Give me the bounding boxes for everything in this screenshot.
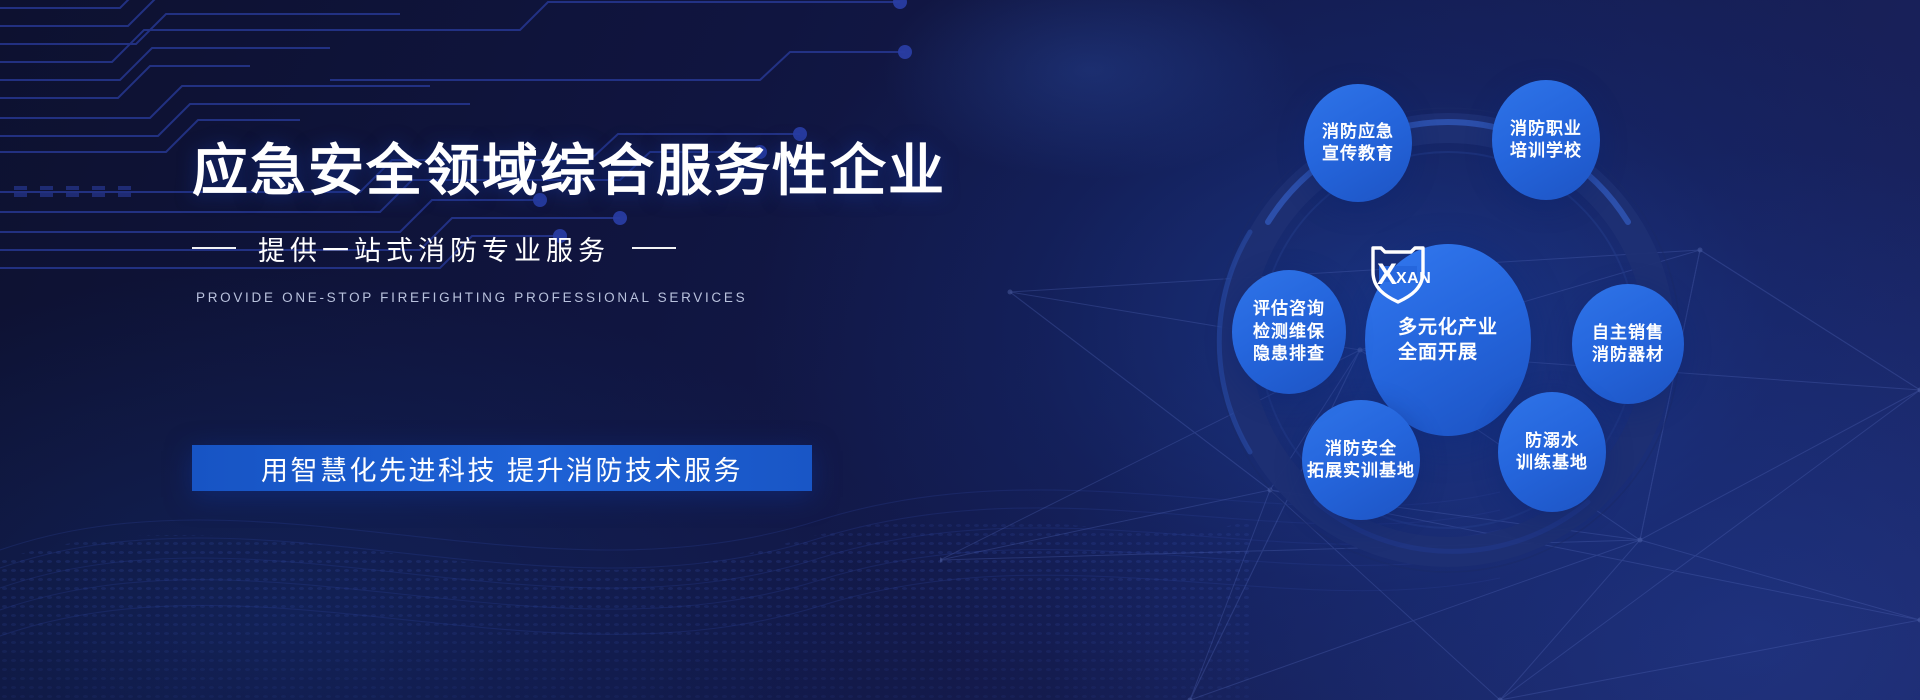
- shield-logo-icon: X XAN: [1365, 244, 1431, 306]
- hub-line-2: 全面开展: [1398, 340, 1498, 365]
- tagline-text: 用智慧化先进科技 提升消防技术服务: [261, 449, 743, 488]
- node-line-2: 消防器材: [1592, 344, 1664, 366]
- node-line-1: 消防安全: [1325, 438, 1397, 460]
- node-assessment-consulting[interactable]: 评估咨询 检测维保 隐患排查: [1232, 270, 1346, 394]
- hub-label: 多元化产业 全面开展: [1398, 315, 1498, 366]
- node-anti-drowning-base[interactable]: 防溺水 训练基地: [1498, 392, 1606, 512]
- node-fire-safety-training-base[interactable]: 消防安全 拓展实训基地: [1302, 400, 1420, 520]
- subtitle-row: 提供一站式消防专业服务: [192, 229, 912, 268]
- svg-text:X: X: [1377, 258, 1397, 291]
- tagline-banner: 用智慧化先进科技 提升消防技术服务: [192, 445, 812, 491]
- node-line-2: 拓展实训基地: [1307, 460, 1415, 482]
- node-line-1: 消防职业: [1510, 118, 1582, 140]
- node-fire-emergency-publicity[interactable]: 消防应急 宣传教育: [1304, 84, 1412, 202]
- page-subtitle: 提供一站式消防专业服务: [258, 229, 610, 268]
- node-line-2: 宣传教育: [1322, 143, 1394, 165]
- node-line-3: 隐患排查: [1253, 343, 1325, 365]
- dash-right-icon: [632, 247, 676, 249]
- node-line-1: 自主销售: [1592, 322, 1664, 344]
- node-line-2: 检测维保: [1253, 321, 1325, 343]
- node-line-2: 培训学校: [1510, 140, 1582, 162]
- services-diagram: X XAN 多元化产业 全面开展 消防应急 宣传教育 消防职业 培训学校 自主销…: [1118, 72, 1778, 612]
- hero-banner: 应急安全领域综合服务性企业 提供一站式消防专业服务 PROVIDE ONE-ST…: [0, 0, 1920, 700]
- page-title: 应急安全领域综合服务性企业: [192, 140, 912, 203]
- node-line-1: 消防应急: [1322, 121, 1394, 143]
- node-independent-sales[interactable]: 自主销售 消防器材: [1572, 284, 1684, 404]
- dash-left-icon: [192, 247, 236, 249]
- node-fire-vocational-school[interactable]: 消防职业 培训学校: [1492, 80, 1600, 200]
- english-subtitle: PROVIDE ONE-STOP FIREFIGHTING PROFESSION…: [196, 290, 912, 305]
- node-line-1: 评估咨询: [1253, 298, 1325, 320]
- node-line-1: 防溺水: [1525, 430, 1579, 452]
- logo-text: XAN: [1396, 270, 1431, 287]
- node-line-2: 训练基地: [1516, 452, 1588, 474]
- hero-copy: 应急安全领域综合服务性企业 提供一站式消防专业服务 PROVIDE ONE-ST…: [192, 140, 912, 305]
- hub-line-1: 多元化产业: [1398, 315, 1498, 340]
